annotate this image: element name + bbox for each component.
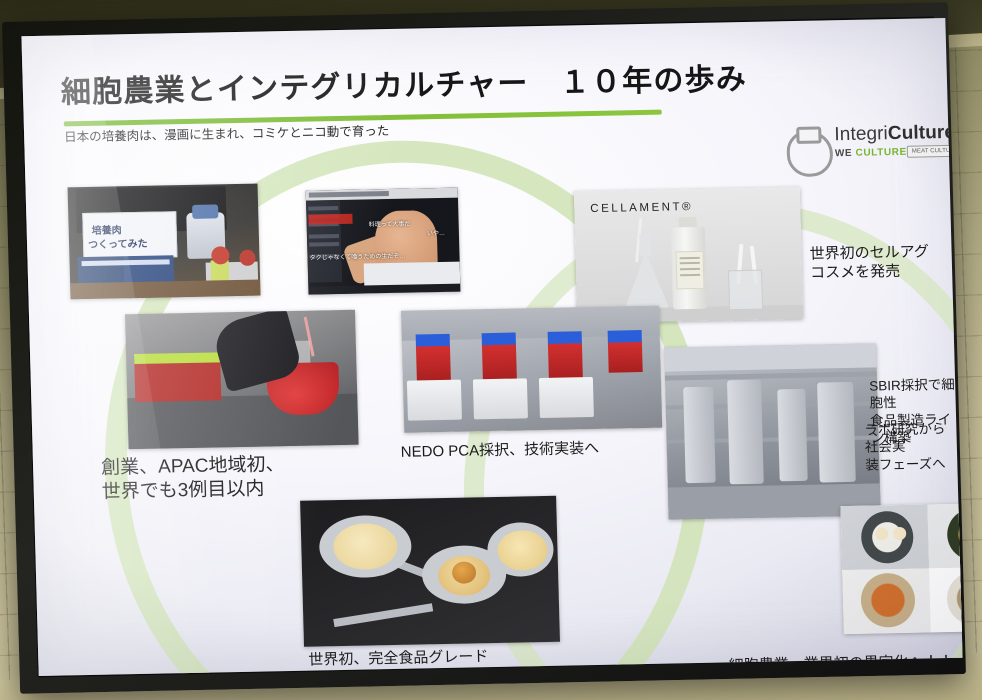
video-comment-1: 料理って大事だ [369, 219, 411, 229]
presentation-slide: 細胞農業とインテグリカルチャー １０年の歩み 日本の培養肉は、漫画に生まれ、コミ… [21, 18, 962, 676]
photo-food-grid [840, 503, 962, 634]
logo-tagline: WE CULTURE [835, 147, 907, 159]
photo-cellament: CELLAMENT® [574, 187, 804, 323]
photo-red-flask-lab [125, 310, 359, 449]
photo-nicovideo: 料理って大事だ いや… タクじゃなくて喰うための生だぞ… [306, 188, 461, 295]
caption-cosme: 世界初のセルアグ コスメを発売 [809, 242, 929, 283]
integriculture-logo: IntegriCulture WE CULTURE MEAT CULTURES [784, 118, 936, 183]
photo-foie-gras [300, 496, 560, 647]
caption-founding: 創業、APAC地域初、 世界でも3例目以内 [101, 453, 286, 505]
photo-desk-sign: 培養肉 つくってみた [68, 184, 261, 300]
cellament-brand: CELLAMENT® [590, 201, 693, 215]
sign-line-2: つくってみた [88, 235, 148, 251]
photo-sign-board: 培養肉 つくってみた [82, 211, 177, 259]
logo-wordmark: IntegriCulture [834, 122, 955, 146]
slide-subtitle: 日本の培養肉は、漫画に生まれ、コミケとニコ動で育った [64, 123, 390, 145]
slide-title: 細胞農業とインテグリカルチャー １０年の歩み [60, 51, 891, 111]
photo-factory-line [664, 343, 881, 519]
photo-scene: 細胞農業とインテグリカルチャー １０年の歩み 日本の培養肉は、漫画に生まれ、コミ… [0, 0, 982, 700]
photo-bioreactors [401, 306, 662, 433]
caption-lab-to-social: ラボ研究から社会実 装フェーズへ [864, 420, 957, 474]
video-comment-3: タクじゃなくて喰うための生だぞ… [309, 251, 405, 262]
video-comment-2: いや… [427, 228, 445, 237]
logo-ring-icon [784, 124, 831, 173]
caption-nedo: NEDO PCA採択、技術実装へ [401, 439, 600, 462]
